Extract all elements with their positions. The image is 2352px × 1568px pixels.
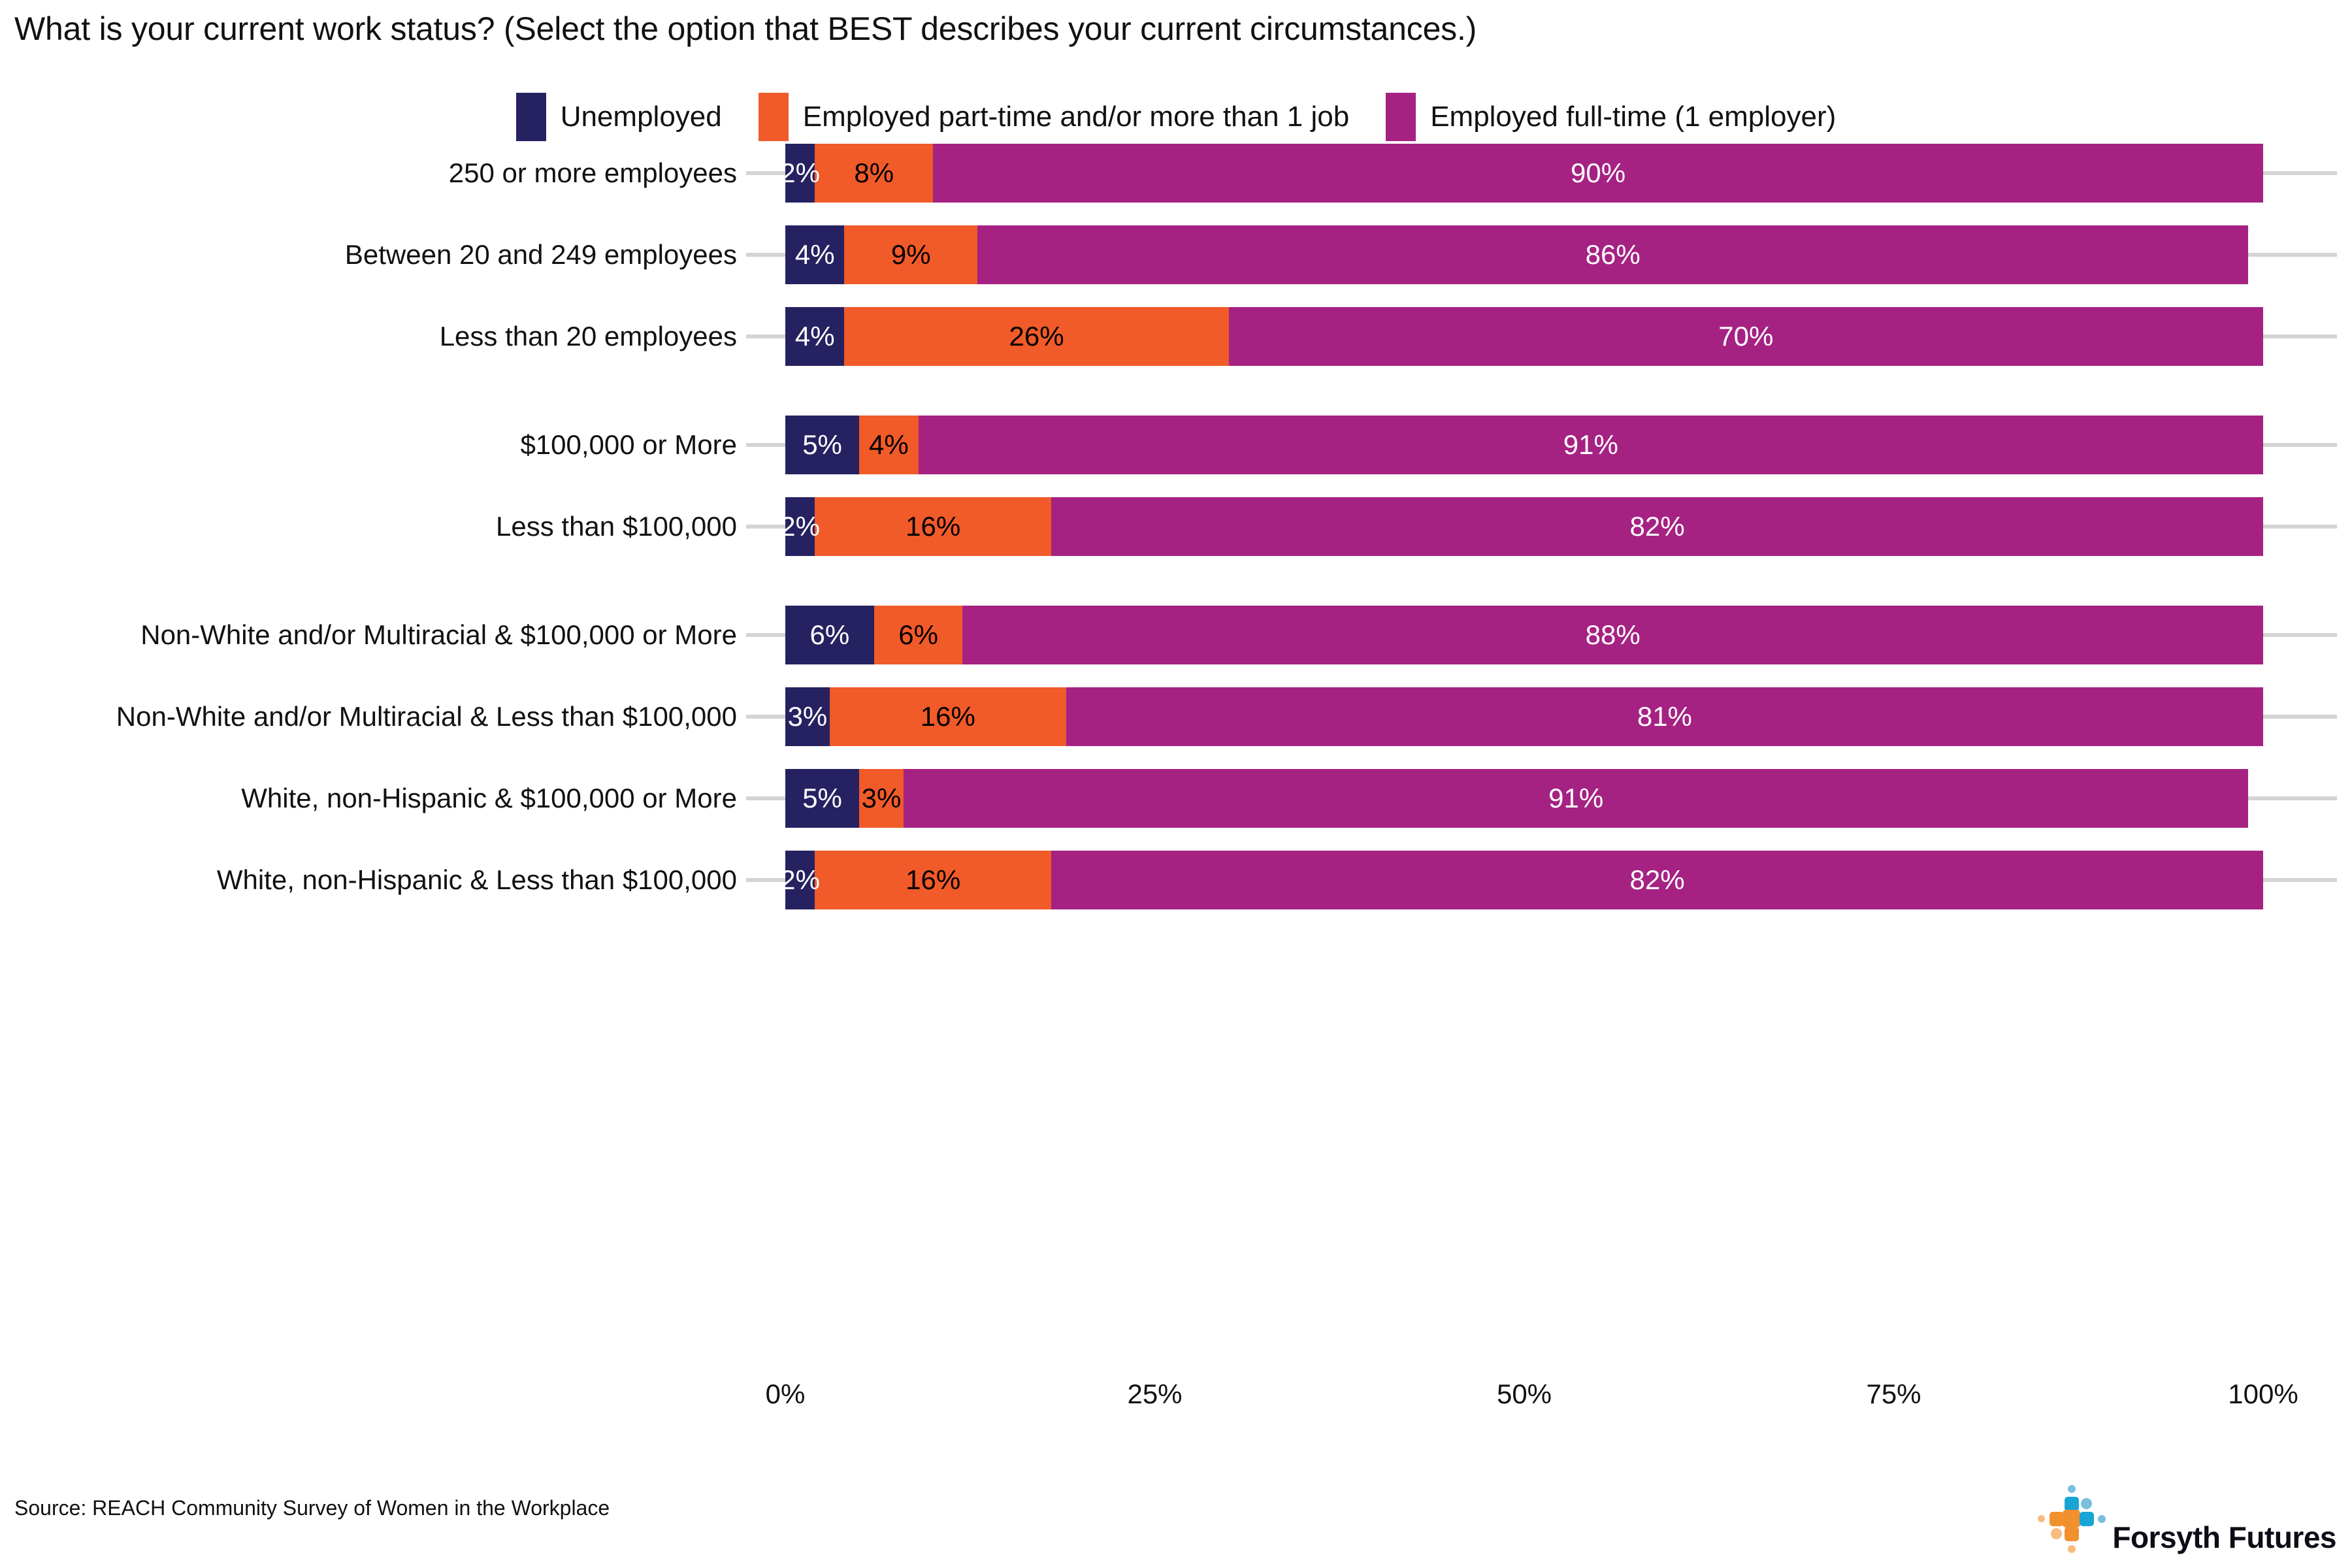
bar-segment[interactable]: 4%: [859, 416, 918, 474]
logo-dot: [2063, 1510, 2080, 1527]
bar-segment-label: 3%: [862, 783, 902, 814]
logo-dot: [2065, 1527, 2079, 1541]
legend-label-part-time: Employed part-time and/or more than 1 jo…: [803, 101, 1349, 133]
x-axis-tick-label: 75%: [1866, 1379, 1921, 1410]
bar-segment[interactable]: 70%: [1229, 307, 2263, 366]
bar-segment-label: 5%: [802, 429, 842, 461]
bar-segment[interactable]: 4%: [785, 307, 844, 366]
stacked-bar-chart: 250 or more employees2%8%90%Between 20 a…: [0, 0, 2352, 1568]
bar-segment[interactable]: 6%: [874, 606, 963, 664]
bar-segment[interactable]: 26%: [844, 307, 1228, 366]
gridline: [699, 633, 2337, 637]
bar-segment-label: 6%: [810, 619, 850, 651]
bar-segment[interactable]: 2%: [785, 851, 815, 909]
legend-swatch-part-time: [759, 93, 789, 141]
gridline: [699, 878, 2337, 882]
logo-dot: [2068, 1485, 2076, 1493]
gridline: [699, 443, 2337, 447]
bar-segment-label: 4%: [795, 239, 835, 270]
bar-row[interactable]: 3%16%81%: [785, 687, 2263, 746]
legend-label-full-time: Employed full-time (1 employer): [1430, 101, 1836, 133]
gridline: [699, 796, 2337, 800]
bar-segment-label: 81%: [1637, 701, 1692, 732]
bar-segment-label: 16%: [921, 701, 975, 732]
bar-row[interactable]: 6%6%88%: [785, 606, 2263, 664]
legend-swatch-full-time: [1386, 93, 1416, 141]
category-label: White, non-Hispanic & Less than $100,000: [208, 864, 746, 896]
bar-segment[interactable]: 82%: [1051, 497, 2263, 556]
bar-segment-label: 6%: [898, 619, 938, 651]
bar-segment[interactable]: 16%: [815, 851, 1051, 909]
category-label: 250 or more employees: [440, 157, 746, 189]
bar-segment-label: 9%: [891, 239, 931, 270]
logo-dot: [2080, 1512, 2094, 1526]
bar-segment[interactable]: 91%: [919, 416, 2263, 474]
bar-segment-label: 2%: [780, 511, 820, 542]
logo-dot: [2068, 1545, 2076, 1553]
x-axis-tick-label: 50%: [1497, 1379, 1552, 1410]
bar-segment[interactable]: 9%: [844, 225, 977, 284]
bar-segment[interactable]: 86%: [977, 225, 2248, 284]
bar-segment[interactable]: 6%: [785, 606, 874, 664]
chart-legend: Unemployed Employed part-time and/or mor…: [0, 91, 2352, 142]
bar-segment-label: 90%: [1571, 157, 1625, 189]
bar-segment-label: 26%: [1009, 321, 1064, 352]
bar-segment[interactable]: 91%: [904, 769, 2248, 828]
bar-segment[interactable]: 5%: [785, 769, 859, 828]
page-title: What is your current work status? (Selec…: [14, 10, 1477, 48]
bar-segment-label: 3%: [788, 701, 828, 732]
logo-dot: [2038, 1515, 2045, 1522]
gridline: [699, 715, 2337, 719]
bar-segment-label: 8%: [854, 157, 894, 189]
bar-segment[interactable]: 8%: [815, 144, 933, 203]
legend-item-unemployed[interactable]: Unemployed: [516, 93, 722, 141]
category-label: White, non-Hispanic & $100,000 or More: [232, 783, 746, 814]
gridline: [699, 335, 2337, 338]
category-label: $100,000 or More: [511, 429, 746, 461]
x-axis-tick-label: 0%: [766, 1379, 806, 1410]
logo-dot: [2098, 1515, 2106, 1523]
x-axis-tick-label: 25%: [1127, 1379, 1182, 1410]
plot-area: 250 or more employees2%8%90%Between 20 a…: [0, 0, 2352, 1568]
bar-segment-label: 4%: [869, 429, 909, 461]
gridline: [699, 171, 2337, 175]
bar-row[interactable]: 5%4%91%: [785, 416, 2263, 474]
gridline: [699, 525, 2337, 529]
bar-segment-label: 2%: [780, 864, 820, 896]
logo-dot: [2081, 1498, 2092, 1509]
category-label: Between 20 and 249 employees: [336, 239, 746, 270]
bar-segment-label: 16%: [906, 864, 960, 896]
bar-segment[interactable]: 5%: [785, 416, 859, 474]
bar-segment[interactable]: 2%: [785, 497, 815, 556]
bar-segment[interactable]: 88%: [962, 606, 2263, 664]
category-label: Less than $100,000: [487, 511, 746, 542]
logo-dot: [2050, 1512, 2064, 1526]
bar-segment[interactable]: 16%: [815, 497, 1051, 556]
legend-item-part-time[interactable]: Employed part-time and/or more than 1 jo…: [759, 93, 1349, 141]
bar-segment[interactable]: 90%: [933, 144, 2263, 203]
legend-label-unemployed: Unemployed: [561, 101, 722, 133]
forsyth-futures-dot-cross-icon: [2030, 1478, 2107, 1556]
bar-segment-label: 2%: [780, 157, 820, 189]
bar-segment-label: 70%: [1718, 321, 1773, 352]
category-label: Non-White and/or Multiracial & $100,000 …: [131, 619, 746, 651]
bar-row[interactable]: 2%8%90%: [785, 144, 2263, 203]
forsyth-futures-logo: Forsyth Futures: [2030, 1478, 2336, 1556]
logo-dot: [2051, 1528, 2062, 1539]
bar-row[interactable]: 2%16%82%: [785, 851, 2263, 909]
bar-row[interactable]: 4%9%86%: [785, 225, 2263, 284]
bar-segment-label: 88%: [1586, 619, 1641, 651]
bar-segment-label: 4%: [795, 321, 835, 352]
source-note: Source: REACH Community Survey of Women …: [14, 1496, 610, 1520]
bar-segment[interactable]: 2%: [785, 144, 815, 203]
bar-segment[interactable]: 16%: [830, 687, 1066, 746]
bar-segment-label: 82%: [1630, 864, 1685, 896]
bar-row[interactable]: 4%26%70%: [785, 307, 2263, 366]
bar-segment-label: 91%: [1563, 429, 1618, 461]
bar-segment-label: 91%: [1548, 783, 1603, 814]
logo-dot: [2065, 1497, 2079, 1511]
bar-segment-label: 82%: [1630, 511, 1685, 542]
bar-segment-label: 86%: [1586, 239, 1641, 270]
bar-segment-label: 5%: [802, 783, 842, 814]
bar-segment-label: 16%: [906, 511, 960, 542]
bar-segment[interactable]: 3%: [785, 687, 830, 746]
legend-item-full-time[interactable]: Employed full-time (1 employer): [1386, 93, 1836, 141]
bar-segment[interactable]: 4%: [785, 225, 844, 284]
bar-row[interactable]: 2%16%82%: [785, 497, 2263, 556]
bar-row[interactable]: 5%3%91%: [785, 769, 2263, 828]
bar-segment[interactable]: 81%: [1066, 687, 2263, 746]
gridline: [699, 253, 2337, 257]
bar-segment[interactable]: 82%: [1051, 851, 2263, 909]
category-label: Non-White and/or Multiracial & Less than…: [107, 701, 746, 732]
bar-segment[interactable]: 3%: [859, 769, 904, 828]
x-axis-tick-label: 100%: [2228, 1379, 2298, 1410]
legend-swatch-unemployed: [516, 93, 546, 141]
category-label: Less than 20 employees: [431, 321, 746, 352]
logo-wordmark: Forsyth Futures: [2112, 1520, 2336, 1555]
